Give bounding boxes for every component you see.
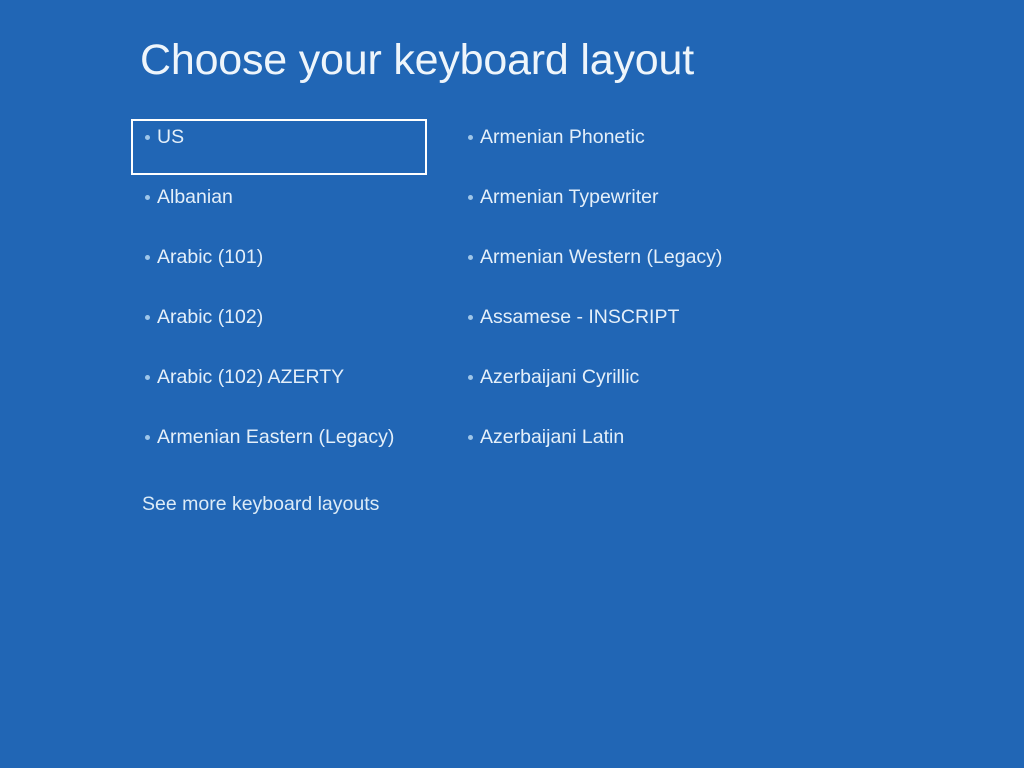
bullet-icon <box>468 435 473 440</box>
keyboard-layout-option-albanian[interactable]: Albanian <box>131 179 431 239</box>
bullet-icon <box>468 315 473 320</box>
keyboard-layout-option-arabic-102-azerty[interactable]: Arabic (102) AZERTY <box>131 359 431 419</box>
keyboard-layout-option-us[interactable]: US <box>131 119 427 175</box>
keyboard-layout-option-label: Armenian Eastern (Legacy) <box>157 425 394 449</box>
keyboard-layout-option-label: Armenian Western (Legacy) <box>480 245 722 269</box>
bullet-icon <box>468 135 473 140</box>
keyboard-layout-column-right: Armenian Phonetic Armenian Typewriter Ar… <box>454 119 794 479</box>
keyboard-layout-option-armenian-phonetic[interactable]: Armenian Phonetic <box>454 119 794 179</box>
keyboard-layout-option-label: Arabic (101) <box>157 245 263 269</box>
keyboard-layout-option-label: Arabic (102) <box>157 305 263 329</box>
keyboard-layout-option-armenian-eastern-legacy[interactable]: Armenian Eastern (Legacy) <box>131 419 431 479</box>
keyboard-layout-option-arabic-102[interactable]: Arabic (102) <box>131 299 431 359</box>
keyboard-layout-option-armenian-typewriter[interactable]: Armenian Typewriter <box>454 179 794 239</box>
bullet-icon <box>145 375 150 380</box>
bullet-icon <box>145 135 150 140</box>
keyboard-layout-option-assamese-inscript[interactable]: Assamese - INSCRIPT <box>454 299 794 359</box>
keyboard-layout-option-label: Azerbaijani Latin <box>480 425 624 449</box>
bullet-icon <box>145 195 150 200</box>
keyboard-layout-screen: Choose your keyboard layout US Albanian … <box>0 0 1024 768</box>
bullet-icon <box>145 435 150 440</box>
keyboard-layout-option-label: Arabic (102) AZERTY <box>157 365 344 389</box>
keyboard-layout-option-label: Assamese - INSCRIPT <box>480 305 679 329</box>
keyboard-layout-option-azerbaijani-cyrillic[interactable]: Azerbaijani Cyrillic <box>454 359 794 419</box>
keyboard-layout-option-azerbaijani-latin[interactable]: Azerbaijani Latin <box>454 419 794 479</box>
keyboard-layout-option-label: US <box>157 125 184 149</box>
bullet-icon <box>145 315 150 320</box>
page-title: Choose your keyboard layout <box>140 36 694 85</box>
keyboard-layout-option-label: Albanian <box>157 185 233 209</box>
keyboard-layout-column-left: US Albanian Arabic (101) Arabic (102) Ar… <box>131 119 431 479</box>
keyboard-layout-option-arabic-101[interactable]: Arabic (101) <box>131 239 431 299</box>
see-more-keyboard-layouts-link[interactable]: See more keyboard layouts <box>142 492 379 516</box>
keyboard-layout-option-armenian-western-legacy[interactable]: Armenian Western (Legacy) <box>454 239 794 299</box>
bullet-icon <box>468 375 473 380</box>
keyboard-layout-option-label: Azerbaijani Cyrillic <box>480 365 639 389</box>
bullet-icon <box>145 255 150 260</box>
keyboard-layout-option-label: Armenian Typewriter <box>480 185 658 209</box>
bullet-icon <box>468 195 473 200</box>
keyboard-layout-option-label: Armenian Phonetic <box>480 125 645 149</box>
bullet-icon <box>468 255 473 260</box>
